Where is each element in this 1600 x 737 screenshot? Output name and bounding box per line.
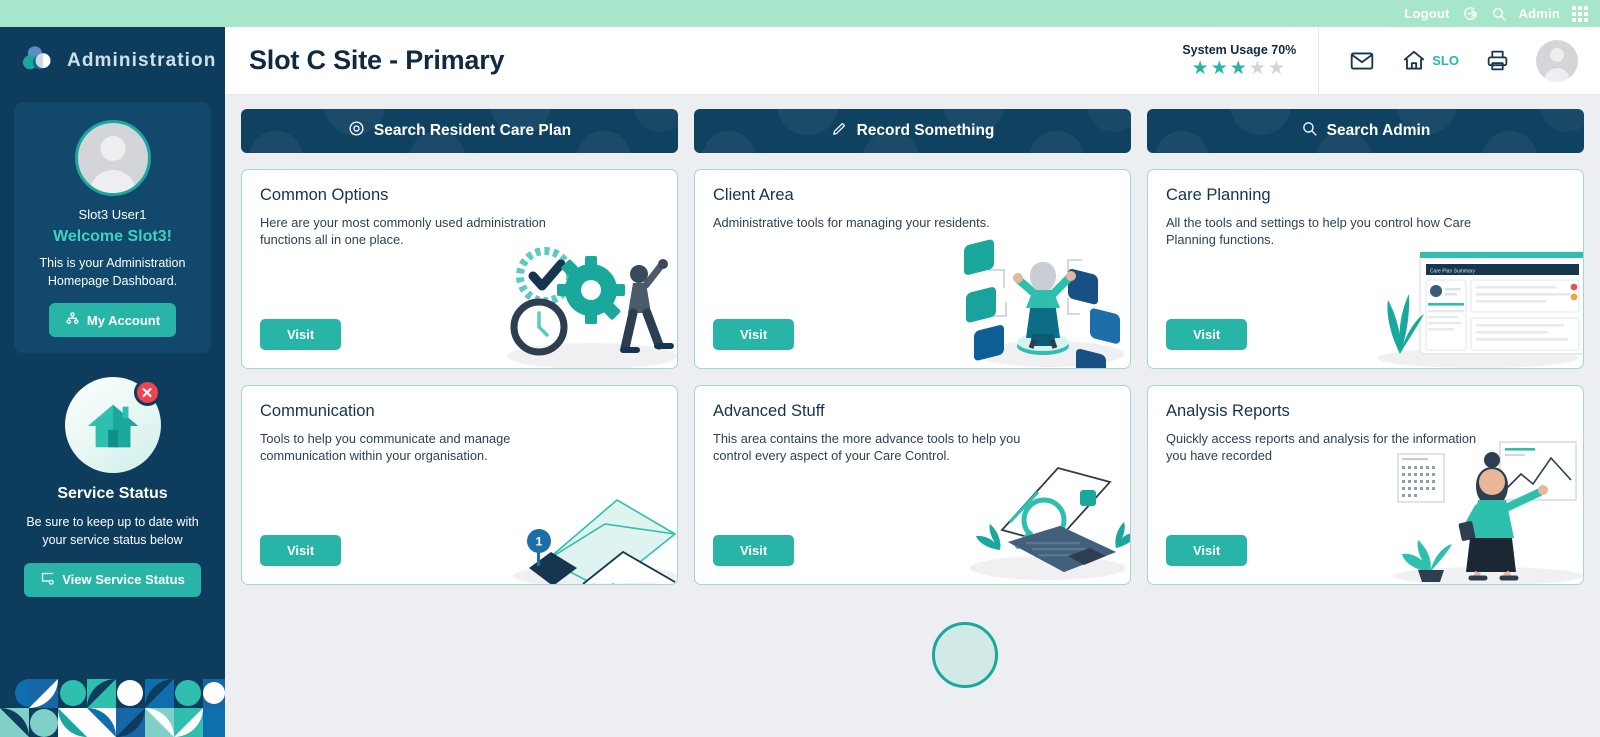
logout-arrow-icon[interactable]: [1462, 5, 1479, 22]
x-error-icon: ✕: [134, 379, 161, 406]
analysis-reports-visit-button[interactable]: Visit: [1166, 535, 1247, 566]
global-topbar: Logout Admin: [0, 0, 1600, 27]
sidebar: Administration Slot3 User1 Welcome Slot3…: [0, 27, 225, 737]
woman-app-tiles-illustration: [940, 228, 1130, 368]
svg-text:Care Plan Summary: Care Plan Summary: [1430, 269, 1476, 275]
my-account-button[interactable]: My Account: [49, 303, 176, 337]
common-options-visit-button[interactable]: Visit: [260, 319, 341, 350]
card-description: This area contains the more advance tool…: [713, 430, 1040, 464]
envelope-notification-illustration: 1: [487, 444, 677, 584]
card-care-planning[interactable]: Care Planning All the tools and settings…: [1147, 169, 1584, 369]
card-common-options[interactable]: Common Options Here are your most common…: [241, 169, 678, 369]
card-grid: Common Options Here are your most common…: [241, 169, 1584, 585]
cloud-logo-icon: [22, 45, 56, 78]
welcome-message: Welcome Slot3!: [26, 228, 199, 246]
search-admin-label: Search Admin: [1327, 122, 1431, 140]
grid-apps-icon[interactable]: [1572, 6, 1588, 22]
user-name: Slot3 User1: [26, 207, 199, 222]
card-title: Communication: [260, 402, 659, 421]
view-service-status-label: View Service Status: [62, 572, 185, 587]
pencil-edit-icon: [831, 120, 848, 142]
mail-icon[interactable]: [1349, 48, 1375, 74]
action-button-row: Search Resident Care Plan Record Somethi…: [241, 109, 1584, 153]
print-icon[interactable]: [1485, 48, 1510, 73]
target-search-icon: [348, 120, 365, 142]
card-description: Here are your most commonly used adminis…: [260, 214, 587, 248]
card-title: Advanced Stuff: [713, 402, 1112, 421]
search-icon[interactable]: [1491, 6, 1507, 22]
logout-link[interactable]: Logout: [1404, 7, 1449, 20]
user-avatar-icon: [75, 120, 151, 196]
brand[interactable]: Administration: [0, 27, 225, 95]
laptop-magnifier-illustration: [940, 444, 1130, 584]
brand-label: Administration: [67, 50, 216, 72]
slo-label: SLO: [1432, 53, 1459, 68]
card-title: Common Options: [260, 186, 659, 205]
search-resident-care-plan-button[interactable]: Search Resident Care Plan: [241, 109, 678, 153]
card-description: Administrative tools for managing your r…: [713, 214, 1040, 231]
decorative-pattern: [0, 679, 225, 737]
dashboard-description: This is your Administration Homepage Das…: [26, 254, 199, 290]
service-status-panel: ✕ Service Status Be sure to keep up to d…: [0, 377, 225, 596]
search-resident-care-plan-label: Search Resident Care Plan: [374, 122, 571, 140]
card-client-area[interactable]: Client Area Administrative tools for man…: [694, 169, 1131, 369]
record-something-button[interactable]: Record Something: [694, 109, 1131, 153]
service-status-title: Service Status: [14, 485, 211, 503]
view-service-status-button[interactable]: View Service Status: [24, 563, 201, 597]
client-area-visit-button[interactable]: Visit: [713, 319, 794, 350]
card-description: Tools to help you communicate and manage…: [260, 430, 587, 464]
user-panel: Slot3 User1 Welcome Slot3! This is your …: [14, 102, 211, 353]
record-something-label: Record Something: [857, 122, 995, 140]
gears-clock-person-illustration: [487, 228, 677, 368]
advanced-stuff-visit-button[interactable]: Visit: [713, 535, 794, 566]
card-title: Client Area: [713, 186, 1112, 205]
communication-visit-button[interactable]: Visit: [260, 535, 341, 566]
home-icon[interactable]: SLO: [1401, 48, 1459, 74]
card-description: Quickly access reports and analysis for …: [1166, 430, 1493, 464]
card-title: Analysis Reports: [1166, 402, 1565, 421]
search-icon: [1301, 120, 1318, 142]
service-status-description: Be sure to keep up to date with your ser…: [14, 513, 211, 549]
system-usage-stars: ★★★★★: [1182, 59, 1296, 78]
page-header: Slot C Site - Primary System Usage 70% ★…: [225, 27, 1600, 95]
main-content: Search Resident Care Plan Record Somethi…: [225, 95, 1600, 737]
card-analysis-reports[interactable]: Analysis Reports Quickly access reports …: [1147, 385, 1584, 585]
click-highlight: [932, 622, 998, 688]
card-title: Care Planning: [1166, 186, 1565, 205]
system-usage-label: System Usage 70%: [1182, 43, 1296, 57]
page-title: Slot C Site - Primary: [249, 45, 1182, 76]
admin-link[interactable]: Admin: [1519, 7, 1560, 20]
system-usage: System Usage 70% ★★★★★: [1182, 43, 1318, 78]
card-description: All the tools and settings to help you c…: [1166, 214, 1493, 248]
my-account-label: My Account: [87, 313, 160, 328]
card-advanced-stuff[interactable]: Advanced Stuff This area contains the mo…: [694, 385, 1131, 585]
care-planning-visit-button[interactable]: Visit: [1166, 319, 1247, 350]
svg-text:1: 1: [536, 535, 543, 549]
avatar[interactable]: [1536, 40, 1578, 82]
header-tools: SLO: [1318, 27, 1600, 95]
search-admin-button[interactable]: Search Admin: [1147, 109, 1584, 153]
monitor-status-icon: [40, 571, 55, 589]
people-group-icon: [65, 311, 80, 329]
card-communication[interactable]: Communication Tools to help you communic…: [241, 385, 678, 585]
